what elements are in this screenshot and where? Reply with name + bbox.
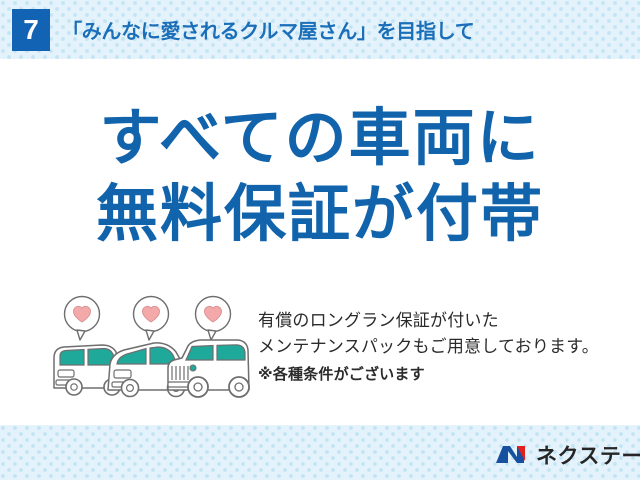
headline-line-1: すべての車両に (0, 104, 640, 174)
body-line-1: 有償のロングラン保証が付いた (258, 308, 630, 334)
body-line-2: メンテナンスパックもご用意しております。 (258, 334, 630, 360)
body-note: ※各種条件がございます (258, 362, 630, 387)
n-mark-icon (495, 443, 529, 467)
heart-bubble-left (65, 297, 100, 341)
body-copy: 有償のロングラン保証が付いた メンテナンスパックもご用意しております。 ※各種条… (258, 308, 630, 387)
advertisement-banner: 7 「みんなに愛されるクルマ屋さん」を目指して すべての車両に 無料保証が付帯 (0, 0, 640, 480)
vehicle-suv (168, 340, 249, 397)
step-number-badge: 7 (12, 9, 50, 51)
headline-line-2: 無料保証が付帯 (0, 180, 640, 250)
heart-bubble-right (196, 297, 231, 341)
cars-illustration-svg (50, 292, 255, 402)
heart-bubble-center (134, 297, 169, 341)
brand-logo-text: ネクステージ (536, 440, 640, 470)
brand-logo: ネクステージ (495, 440, 640, 470)
header-title: 「みんなに愛されるクルマ屋さん」を目指して (62, 15, 475, 44)
cars-illustration (50, 292, 255, 402)
